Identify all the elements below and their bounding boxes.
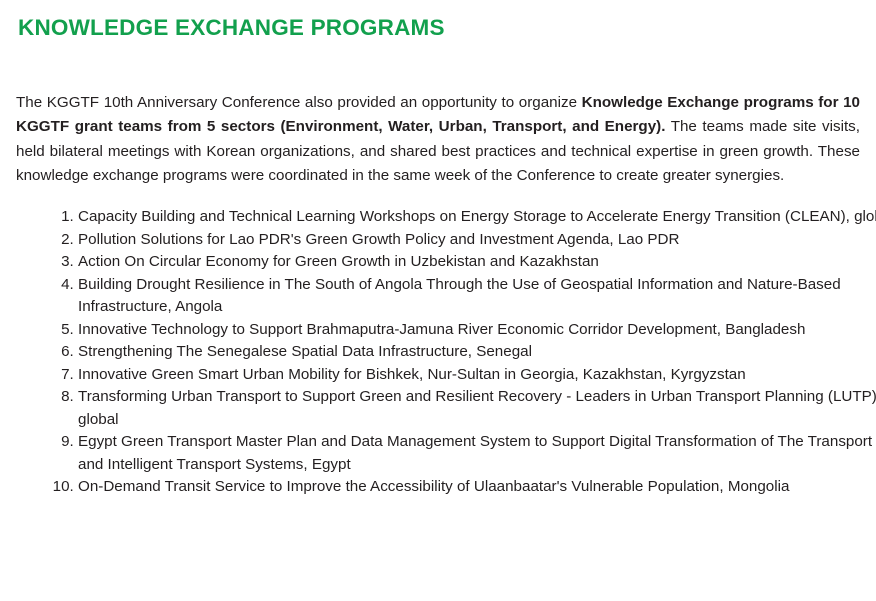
intro-text-lead: The KGGTF 10th Anniversary Conference al… — [16, 94, 582, 111]
list-item: On-Demand Transit Service to Improve the… — [78, 476, 876, 499]
list-item-label: Egypt Green Transport Master Plan and Da… — [78, 433, 876, 473]
page-title: KNOWLEDGE EXCHANGE PROGRAMS — [18, 14, 445, 41]
list-item: Pollution Solutions for Lao PDR's Green … — [78, 229, 876, 252]
list-item: Building Drought Resilience in The South… — [78, 274, 876, 319]
list-item-label: Innovative Green Smart Urban Mobility fo… — [78, 366, 746, 383]
list-item-label: Capacity Building and Technical Learning… — [78, 208, 876, 225]
list-item-label: On-Demand Transit Service to Improve the… — [78, 478, 789, 495]
list-item-label: Pollution Solutions for Lao PDR's Green … — [78, 231, 679, 248]
list-item-label: Strengthening The Senegalese Spatial Dat… — [78, 343, 532, 360]
list-item-label: Innovative Technology to Support Brahmap… — [78, 321, 805, 338]
program-list: Capacity Building and Technical Learning… — [16, 206, 876, 499]
list-item-label: Building Drought Resilience in The South… — [78, 276, 841, 316]
list-item: Action On Circular Economy for Green Gro… — [78, 251, 876, 274]
list-item: Innovative Green Smart Urban Mobility fo… — [78, 364, 876, 387]
intro-paragraph: The KGGTF 10th Anniversary Conference al… — [16, 91, 860, 188]
list-item: Egypt Green Transport Master Plan and Da… — [78, 431, 876, 476]
list-item: Strengthening The Senegalese Spatial Dat… — [78, 341, 876, 364]
list-item: Transforming Urban Transport to Support … — [78, 386, 876, 431]
document-page: KNOWLEDGE EXCHANGE PROGRAMS The KGGTF 10… — [0, 0, 876, 601]
list-item: Capacity Building and Technical Learning… — [78, 206, 876, 229]
list-item-label: Action On Circular Economy for Green Gro… — [78, 253, 599, 270]
list-item: Innovative Technology to Support Brahmap… — [78, 319, 876, 342]
list-item-label: Transforming Urban Transport to Support … — [78, 388, 876, 428]
